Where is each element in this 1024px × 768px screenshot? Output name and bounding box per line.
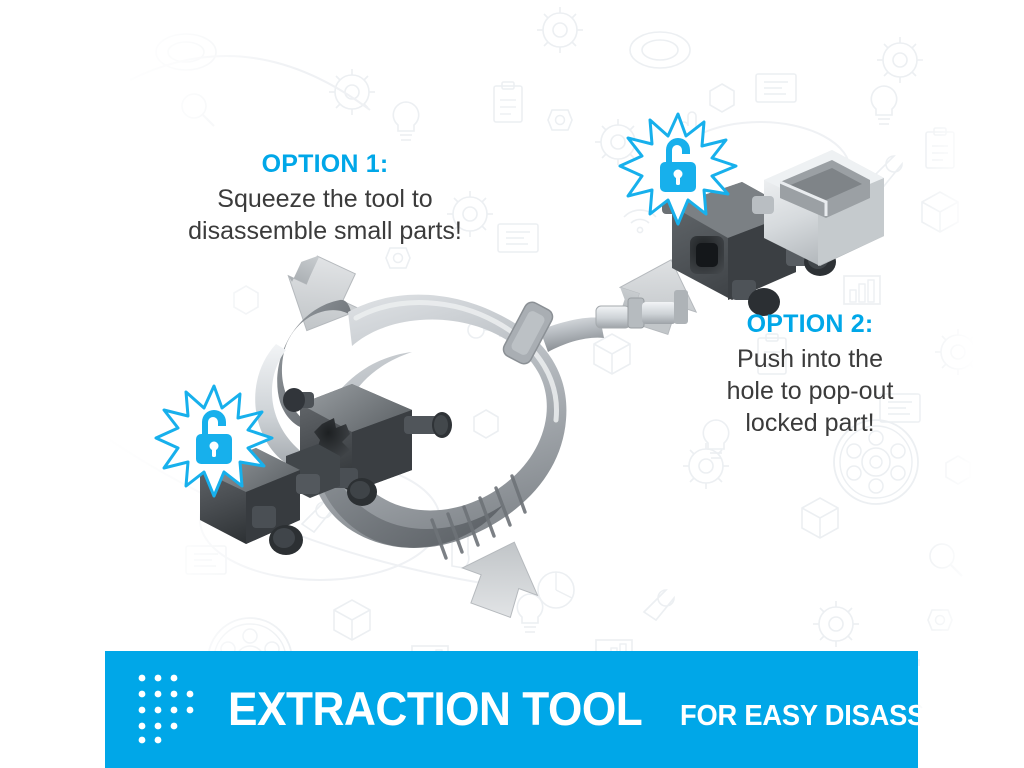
callout-option-2: OPTION 2: Push into the hole to pop-out … — [662, 308, 958, 439]
callout-option-1: OPTION 1: Squeeze the tool to disassembl… — [150, 148, 500, 247]
infographic-canvas: OPTION 1: Squeeze the tool to disassembl… — [0, 0, 1024, 768]
callout-option-1-body: Squeeze the tool to disassemble small pa… — [150, 183, 500, 247]
arrow-up-left-icon — [452, 528, 552, 623]
banner-text: EXTRACTION TOOL FOR EASY DISASSEMBLY — [228, 681, 918, 738]
unlock-badge-bottom-left — [152, 382, 276, 502]
callout-option-2-body: Push into the hole to pop-out locked par… — [662, 343, 958, 439]
callout-option-2-heading: OPTION 2: — [662, 308, 958, 340]
banner-dot-pattern-icon — [136, 670, 210, 749]
banner-subtitle: FOR EASY DISASSEMBLY — [680, 700, 918, 733]
callout-option-1-heading: OPTION 1: — [150, 148, 500, 180]
banner-title: EXTRACTION TOOL — [228, 681, 642, 736]
bottom-banner: EXTRACTION TOOL FOR EASY DISASSEMBLY — [105, 651, 918, 768]
unlock-badge-top-right — [616, 110, 740, 230]
